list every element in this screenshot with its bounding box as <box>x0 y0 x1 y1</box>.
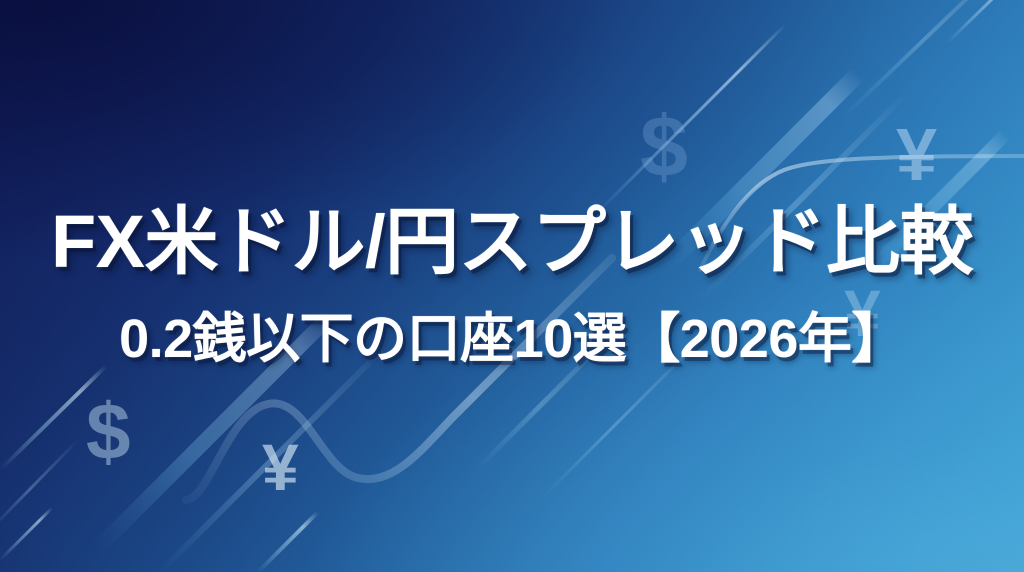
subtitle-text: 0.2銭以下の口座10選【2026年】 <box>119 310 905 369</box>
headline-block: FX米ドル/円スプレッド比較 0.2銭以下の口座10選【2026年】 <box>0 0 1024 572</box>
eyecatch-banner: $ ¥ ¥ $ ¥ FX米ドル/円スプレッド比較 0.2銭以下の口座10選【20… <box>0 0 1024 572</box>
main-title: FX米ドル/円スプレッド比較 <box>51 203 973 281</box>
